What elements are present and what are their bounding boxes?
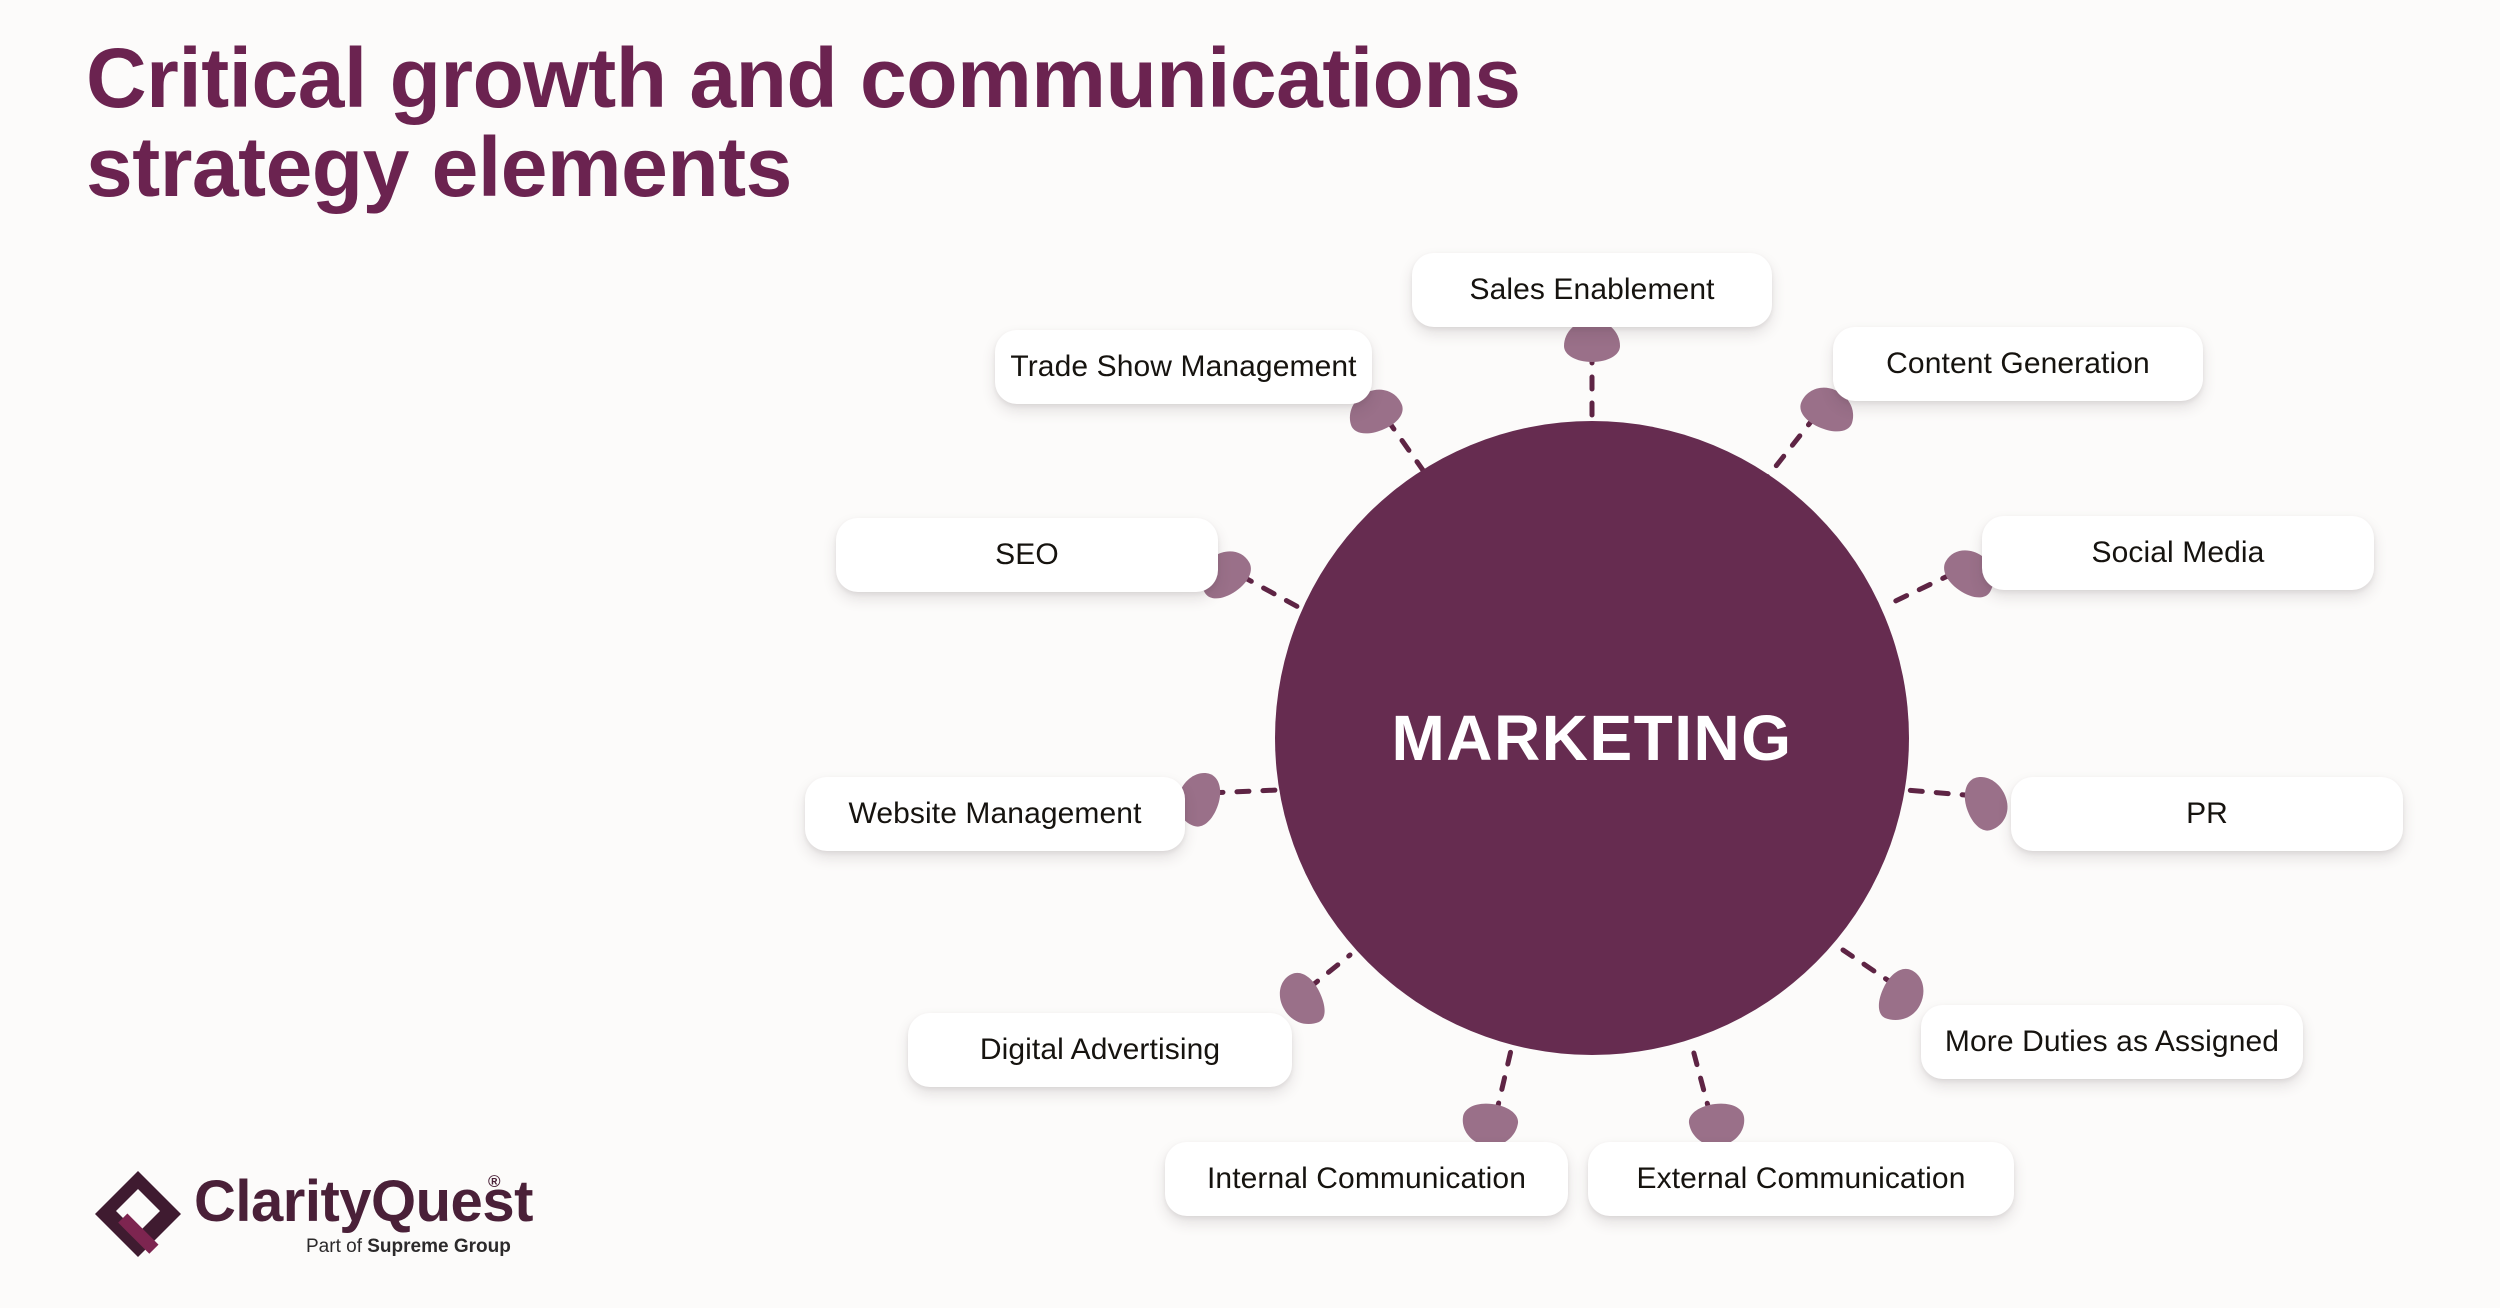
pill-digital-advertising[interactable]: Digital Advertising	[908, 1013, 1292, 1087]
pill-website-management[interactable]: Website Management	[805, 777, 1185, 851]
connector-more-duties	[1843, 950, 1923, 1020]
pill-internal-communication[interactable]: Internal Communication	[1165, 1142, 1568, 1216]
pill-trade-show-management[interactable]: Trade Show Management	[995, 330, 1372, 404]
clarityquest-diamond-icon	[90, 1166, 186, 1262]
pill-label: External Communication	[1636, 1162, 1965, 1196]
pill-sales-enablement[interactable]: Sales Enablement	[1412, 253, 1772, 327]
pill-label: PR	[2186, 797, 2228, 831]
hub-circle-marketing[interactable]: MARKETING	[1275, 421, 1909, 1055]
pill-more-duties-as-assigned[interactable]: More Duties as Assigned	[1921, 1005, 2303, 1079]
logo-tagline-prefix: Part of	[306, 1236, 367, 1257]
pill-label: SEO	[995, 538, 1059, 572]
hub-label: MARKETING	[1391, 701, 1792, 775]
connector-digital-advertising	[1280, 955, 1350, 1024]
logo-wordmark: ClarityQuest	[194, 1168, 533, 1235]
pill-label: Social Media	[2092, 536, 2265, 570]
pill-label: More Duties as Assigned	[1945, 1025, 2279, 1059]
connector-trade-show-management	[1350, 390, 1432, 483]
connector-sales-enablement	[1564, 320, 1620, 424]
pill-external-communication[interactable]: External Communication	[1588, 1142, 2014, 1216]
pill-label: Internal Communication	[1207, 1162, 1526, 1196]
connector-social-media	[1885, 550, 1994, 606]
registered-trademark-icon: ®	[488, 1172, 501, 1192]
pill-content-generation[interactable]: Content Generation	[1833, 327, 2203, 401]
pill-social-media[interactable]: Social Media	[1982, 516, 2374, 590]
pill-label: Trade Show Management	[1010, 350, 1356, 384]
connector-content-generation	[1765, 388, 1853, 480]
connector-internal-communication	[1463, 1046, 1518, 1146]
pill-seo[interactable]: SEO	[836, 518, 1218, 592]
slide-canvas: Critical growth and communications strat…	[0, 0, 2500, 1308]
pill-label: Digital Advertising	[980, 1033, 1220, 1067]
connector-layer	[0, 0, 2500, 1308]
connector-external-communication	[1689, 1046, 1744, 1146]
pill-label: Website Management	[848, 797, 1141, 831]
pill-label: Content Generation	[1886, 347, 2150, 381]
connector-website-management	[1177, 773, 1278, 827]
pill-label: Sales Enablement	[1469, 273, 1714, 307]
connector-pr	[1906, 777, 2008, 831]
brand-logo[interactable]: ClarityQuest ® Part of Supreme Group	[90, 1162, 530, 1274]
pill-pr[interactable]: PR	[2011, 777, 2403, 851]
logo-tagline-bold: Supreme Group	[367, 1236, 511, 1257]
logo-tagline: Part of Supreme Group	[306, 1236, 511, 1258]
